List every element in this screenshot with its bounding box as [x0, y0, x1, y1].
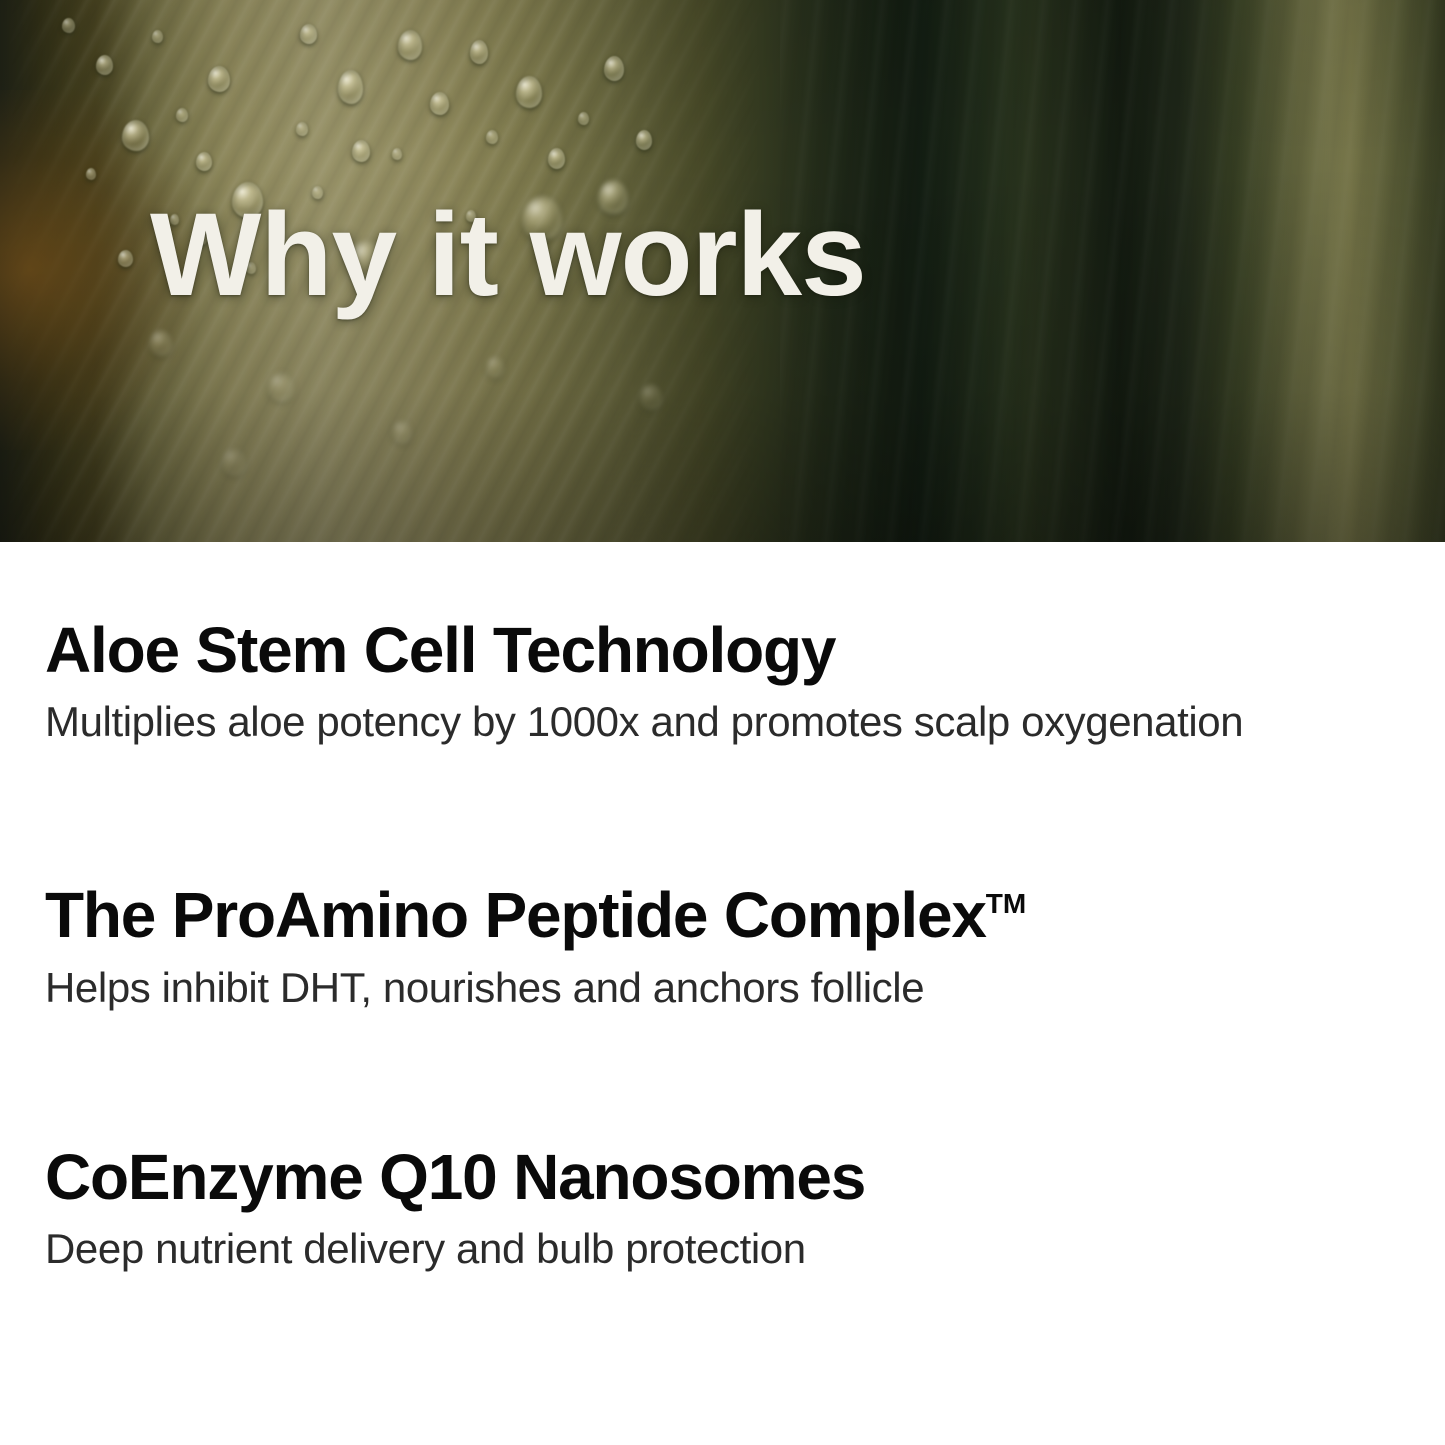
benefit-item-aloe-stem-cell: Aloe Stem Cell Technology Multiplies alo… [45, 618, 1405, 745]
benefit-title: Aloe Stem Cell Technology [45, 618, 1405, 683]
benefit-title: CoEnzyme Q10 Nanosomes [45, 1145, 1405, 1210]
benefit-description: Helps inhibit DHT, nourishes and anchors… [45, 965, 1405, 1011]
hero-banner: Why it works [0, 0, 1445, 542]
benefit-title-text: The ProAmino Peptide Complex [45, 879, 986, 951]
benefit-item-coenzyme-q10-nanosomes: CoEnzyme Q10 Nanosomes Deep nutrient del… [45, 1145, 1405, 1272]
benefit-title: The ProAmino Peptide ComplexTM [45, 883, 1405, 948]
benefits-list: Aloe Stem Cell Technology Multiplies alo… [0, 542, 1445, 1272]
product-info-page: Why it works Aloe Stem Cell Technology M… [0, 0, 1445, 1445]
benefit-title-text: Aloe Stem Cell Technology [45, 614, 835, 686]
benefit-description: Multiplies aloe potency by 1000x and pro… [45, 699, 1405, 745]
benefit-title-text: CoEnzyme Q10 Nanosomes [45, 1141, 865, 1213]
trademark-symbol: TM [986, 888, 1026, 919]
benefit-item-proamino-peptide-complex: The ProAmino Peptide ComplexTM Helps inh… [45, 883, 1405, 1010]
hero-title: Why it works [150, 194, 866, 318]
benefit-description: Deep nutrient delivery and bulb protecti… [45, 1226, 1405, 1272]
